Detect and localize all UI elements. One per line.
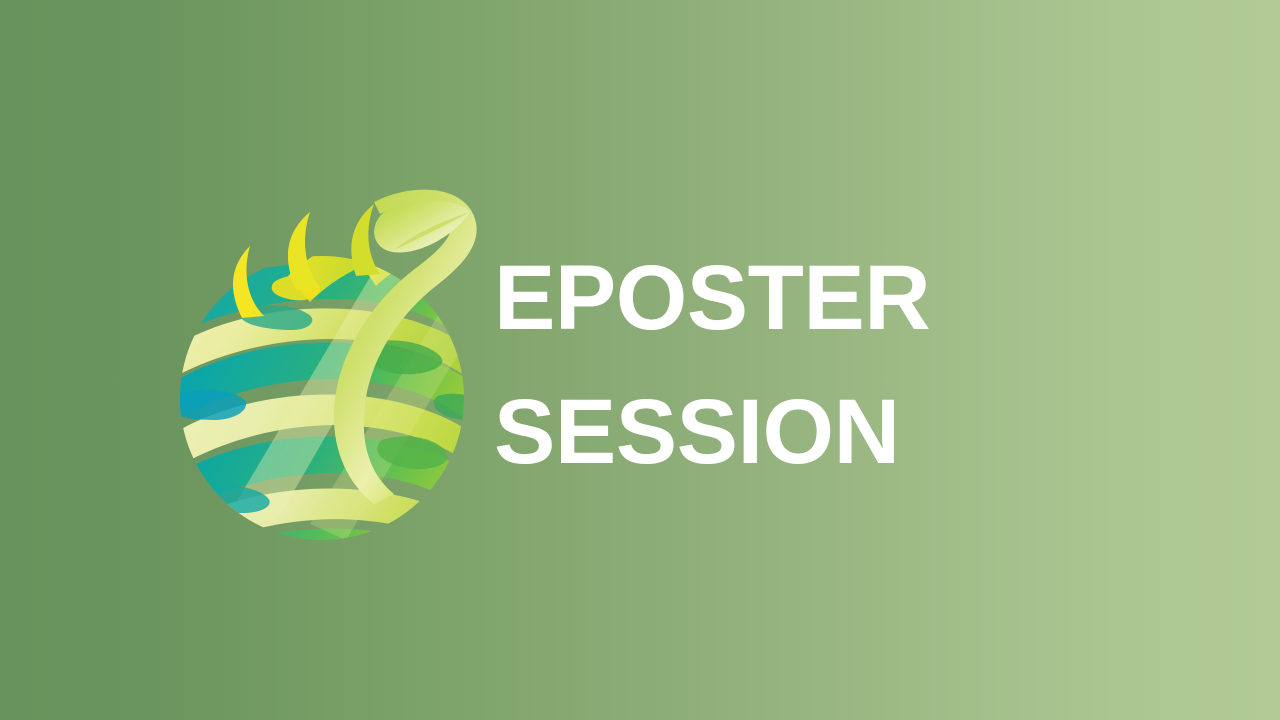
- title-slide: EPOSTER SESSION: [0, 0, 1280, 720]
- title-line-1: EPOSTER: [494, 231, 1134, 365]
- title-line-2: SESSION: [494, 365, 1134, 499]
- title-block: EPOSTER SESSION: [494, 231, 1134, 499]
- globe-leaf-logo: [168, 190, 492, 530]
